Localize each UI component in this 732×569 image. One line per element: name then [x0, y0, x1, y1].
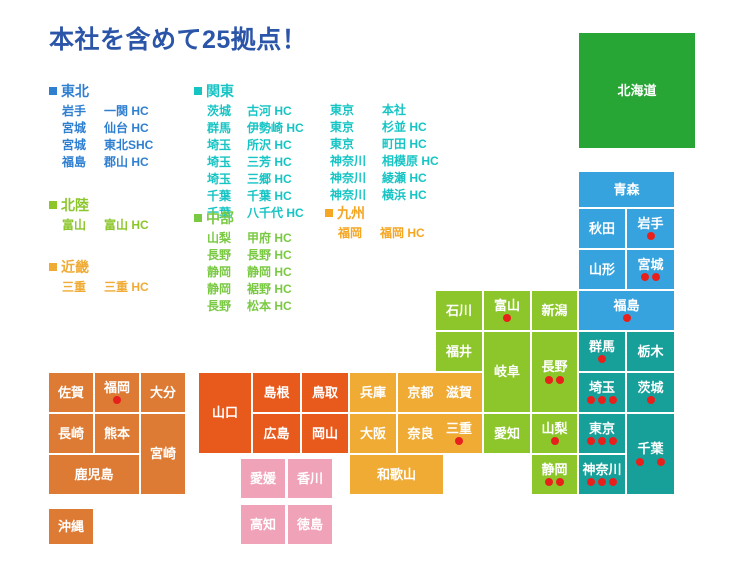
map-tile-福岡[interactable]: 福岡: [95, 373, 139, 412]
map-tile-福井[interactable]: 福井: [436, 332, 482, 371]
map-tile-宮崎[interactable]: 宮崎: [141, 414, 185, 494]
location-dot-group: [545, 478, 564, 486]
location-dot-icon: [598, 355, 606, 363]
map-tile-秋田[interactable]: 秋田: [579, 209, 625, 248]
location-dot-icon: [598, 437, 606, 445]
map-tile-label: 熊本: [104, 427, 130, 441]
map-tile-label: 沖縄: [58, 520, 84, 534]
map-tile-label: 岩手: [637, 217, 663, 231]
map-tile-label: 北海道: [617, 84, 656, 98]
location-dot-group: [641, 273, 660, 281]
map-tile-label: 山口: [212, 406, 238, 420]
map-tile-label: 埼玉: [589, 381, 615, 395]
map-tile-label: 奈良: [407, 427, 433, 441]
map-tile-香川[interactable]: 香川: [288, 459, 332, 498]
location-dot-group: [113, 396, 121, 404]
map-tile-label: 長野: [541, 360, 567, 374]
map-tile-label: 栃木: [637, 345, 663, 359]
location-dot-icon: [598, 396, 606, 404]
map-tile-佐賀[interactable]: 佐賀: [49, 373, 93, 412]
map-tile-鳥取[interactable]: 鳥取: [302, 373, 348, 412]
map-tile-label: 愛媛: [250, 472, 276, 486]
map-tile-label: 島根: [263, 386, 289, 400]
location-dot-icon: [551, 437, 559, 445]
map-tile-label: 秋田: [589, 222, 615, 236]
map-tile-label: 佐賀: [58, 386, 84, 400]
map-tile-label: 山梨: [541, 422, 567, 436]
map-tile-label: 滋賀: [446, 386, 472, 400]
map-tile-label: 和歌山: [377, 468, 416, 482]
map-tile-label: 長崎: [58, 427, 84, 441]
map-tile-長崎[interactable]: 長崎: [49, 414, 93, 453]
map-tile-兵庫[interactable]: 兵庫: [350, 373, 396, 412]
map-tile-岐阜[interactable]: 岐阜: [484, 332, 530, 412]
location-dot-icon: [545, 376, 553, 384]
map-tile-label: 鹿児島: [74, 468, 113, 482]
location-dot-group: [647, 232, 655, 240]
location-dot-icon: [657, 458, 665, 466]
map-tile-愛知[interactable]: 愛知: [484, 414, 530, 453]
map-tile-label: 高知: [250, 518, 276, 532]
location-dot-icon: [652, 273, 660, 281]
map-tile-label: 鳥取: [312, 386, 338, 400]
map-tile-静岡[interactable]: 静岡: [532, 455, 577, 494]
location-dot-group: [503, 314, 511, 322]
location-dot-icon: [636, 458, 644, 466]
map-tile-label: 山形: [589, 263, 615, 277]
location-dot-group: [455, 437, 463, 445]
map-tile-label: 青森: [613, 183, 639, 197]
location-dot-icon: [623, 314, 631, 322]
location-dot-icon: [587, 396, 595, 404]
map-tile-福島[interactable]: 福島: [579, 291, 674, 330]
map-tile-label: 石川: [446, 304, 472, 318]
map-tile-青森[interactable]: 青森: [579, 172, 674, 207]
location-dot-group: [587, 478, 617, 486]
map-tile-label: 三重: [446, 422, 472, 436]
map-tile-label: 愛知: [494, 427, 520, 441]
map-tile-熊本[interactable]: 熊本: [95, 414, 139, 453]
location-dot-icon: [503, 314, 511, 322]
map-tile-鹿児島[interactable]: 鹿児島: [49, 455, 139, 494]
map-tile-label: 千葉: [637, 442, 663, 456]
map-tile-label: 岡山: [312, 427, 338, 441]
map-tile-label: 群馬: [589, 340, 615, 354]
location-dot-icon: [545, 478, 553, 486]
location-dot-icon: [647, 396, 655, 404]
map-tile-徳島[interactable]: 徳島: [288, 505, 332, 544]
map-tile-山形[interactable]: 山形: [579, 250, 625, 289]
map-tile-宮城[interactable]: 宮城: [627, 250, 674, 289]
map-tile-label: 宮城: [637, 258, 663, 272]
location-dot-group: [647, 396, 655, 404]
location-dot-group: [587, 396, 617, 404]
map-tile-label: 兵庫: [360, 386, 386, 400]
map-tile-label: 岐阜: [494, 365, 520, 379]
map-tile-和歌山[interactable]: 和歌山: [350, 455, 443, 494]
location-dot-icon: [609, 478, 617, 486]
map-tile-山梨[interactable]: 山梨: [532, 414, 577, 453]
location-dot-group: [598, 355, 606, 363]
location-dot-icon: [598, 478, 606, 486]
map-tile-大分[interactable]: 大分: [141, 373, 185, 412]
map-tile-愛媛[interactable]: 愛媛: [241, 459, 285, 498]
map-tile-新潟[interactable]: 新潟: [532, 291, 577, 330]
map-tile-群馬[interactable]: 群馬: [579, 332, 625, 371]
map-tile-埼玉[interactable]: 埼玉: [579, 373, 625, 412]
map-tile-大阪[interactable]: 大阪: [350, 414, 396, 453]
location-dot-icon: [609, 437, 617, 445]
map-tile-label: 神奈川: [582, 463, 621, 477]
map-tile-山口[interactable]: 山口: [199, 373, 251, 453]
map-tile-広島[interactable]: 広島: [253, 414, 300, 453]
location-dot-icon: [647, 232, 655, 240]
map-tile-label: 福岡: [104, 381, 130, 395]
map-tile-北海道[interactable]: 北海道: [579, 33, 695, 148]
japan-prefecture-map: 北海道青森秋田岩手山形宮城福島群馬栃木埼玉茨城東京千葉神奈川石川富山新潟福井岐阜…: [0, 0, 732, 569]
map-tile-高知[interactable]: 高知: [241, 505, 285, 544]
location-dot-group: [636, 458, 665, 466]
map-tile-沖縄[interactable]: 沖縄: [49, 509, 93, 544]
map-tile-label: 富山: [494, 299, 520, 313]
location-dot-icon: [641, 273, 649, 281]
map-tile-千葉[interactable]: 千葉: [627, 414, 674, 494]
map-tile-label: 福井: [446, 345, 472, 359]
map-tile-岩手[interactable]: 岩手: [627, 209, 674, 248]
location-dot-group: [623, 314, 631, 322]
map-tile-label: 福島: [613, 299, 639, 313]
map-tile-富山[interactable]: 富山: [484, 291, 530, 330]
map-tile-label: 静岡: [541, 463, 567, 477]
location-dot-group: [587, 437, 617, 445]
map-tile-奈良[interactable]: 奈良: [398, 414, 443, 453]
location-dot-icon: [587, 478, 595, 486]
location-dot-icon: [556, 478, 564, 486]
map-tile-東京[interactable]: 東京: [579, 414, 625, 453]
map-tile-label: 香川: [297, 472, 323, 486]
map-tile-label: 宮崎: [150, 447, 176, 461]
map-tile-岡山[interactable]: 岡山: [302, 414, 348, 453]
map-tile-label: 東京: [589, 422, 615, 436]
map-tile-栃木[interactable]: 栃木: [627, 332, 674, 371]
location-dot-group: [545, 376, 564, 384]
map-tile-京都[interactable]: 京都: [398, 373, 443, 412]
location-dot-icon: [113, 396, 121, 404]
map-tile-神奈川[interactable]: 神奈川: [579, 455, 625, 494]
location-dot-icon: [587, 437, 595, 445]
location-dot-icon: [609, 396, 617, 404]
map-tile-label: 京都: [407, 386, 433, 400]
map-tile-石川[interactable]: 石川: [436, 291, 482, 330]
map-tile-label: 茨城: [637, 381, 663, 395]
map-tile-label: 新潟: [541, 304, 567, 318]
map-tile-長野[interactable]: 長野: [532, 332, 577, 412]
map-tile-島根[interactable]: 島根: [253, 373, 300, 412]
location-dot-icon: [455, 437, 463, 445]
map-tile-label: 大阪: [360, 427, 386, 441]
map-tile-label: 大分: [150, 386, 176, 400]
map-tile-label: 徳島: [297, 518, 323, 532]
map-tile-茨城[interactable]: 茨城: [627, 373, 674, 412]
location-dot-icon: [556, 376, 564, 384]
location-dot-group: [551, 437, 559, 445]
map-tile-label: 広島: [263, 427, 289, 441]
